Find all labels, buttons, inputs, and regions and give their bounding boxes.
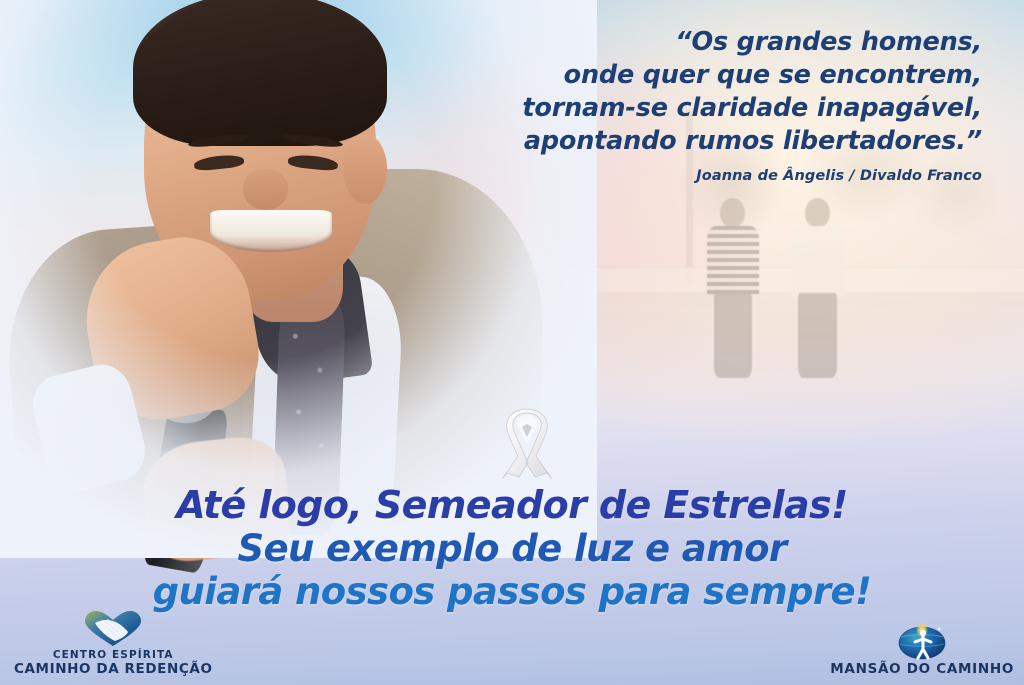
portrait-ear bbox=[343, 134, 387, 205]
scene-person-striped-shirt bbox=[704, 198, 761, 374]
headline-block: Até logo, Semeador de Estrelas! Seu exem… bbox=[0, 486, 1024, 610]
mourning-ribbon bbox=[492, 407, 562, 483]
headline-line-1: Até logo, Semeador de Estrelas! bbox=[0, 486, 1024, 524]
white-ribbon-icon bbox=[492, 407, 562, 483]
quote-line-4: apontando rumos libertadores.” bbox=[422, 125, 982, 158]
scene-person-white-shirt bbox=[789, 198, 846, 374]
headline-line-2: Seu exemplo de luz e amor bbox=[0, 530, 1024, 567]
quote-line-3: tornam-se claridade inapagável, bbox=[422, 92, 982, 125]
quote-line-1: “Os grandes homens, bbox=[422, 26, 982, 59]
poster-canvas: “Os grandes homens, onde quer que se enc… bbox=[0, 0, 1024, 685]
logo-left-line-2: CAMINHO DA REDENÇÃO bbox=[14, 662, 213, 677]
quote-line-2: onde quer que se encontrem, bbox=[422, 59, 982, 92]
portrait-nose bbox=[243, 169, 287, 210]
portrait-hair bbox=[133, 0, 387, 146]
globe-figure-icon bbox=[895, 622, 949, 660]
logo-right-line-2: MANSÃO DO CAMINHO bbox=[830, 662, 1014, 677]
heart-hand-icon bbox=[82, 610, 144, 648]
portrait-smile bbox=[210, 210, 332, 251]
headline-line-3: guiará nossos passos para sempre! bbox=[0, 573, 1024, 610]
quote-attribution: Joanna de Ângelis / Divaldo Franco bbox=[422, 168, 982, 184]
quote-block: “Os grandes homens, onde quer que se enc… bbox=[422, 26, 982, 184]
logo-mansao-do-caminho[interactable]: MANSÃO DO CAMINHO bbox=[830, 622, 1014, 677]
logo-centro-espirita[interactable]: CENTRO ESPÍRITA CAMINHO DA REDENÇÃO bbox=[14, 610, 213, 677]
